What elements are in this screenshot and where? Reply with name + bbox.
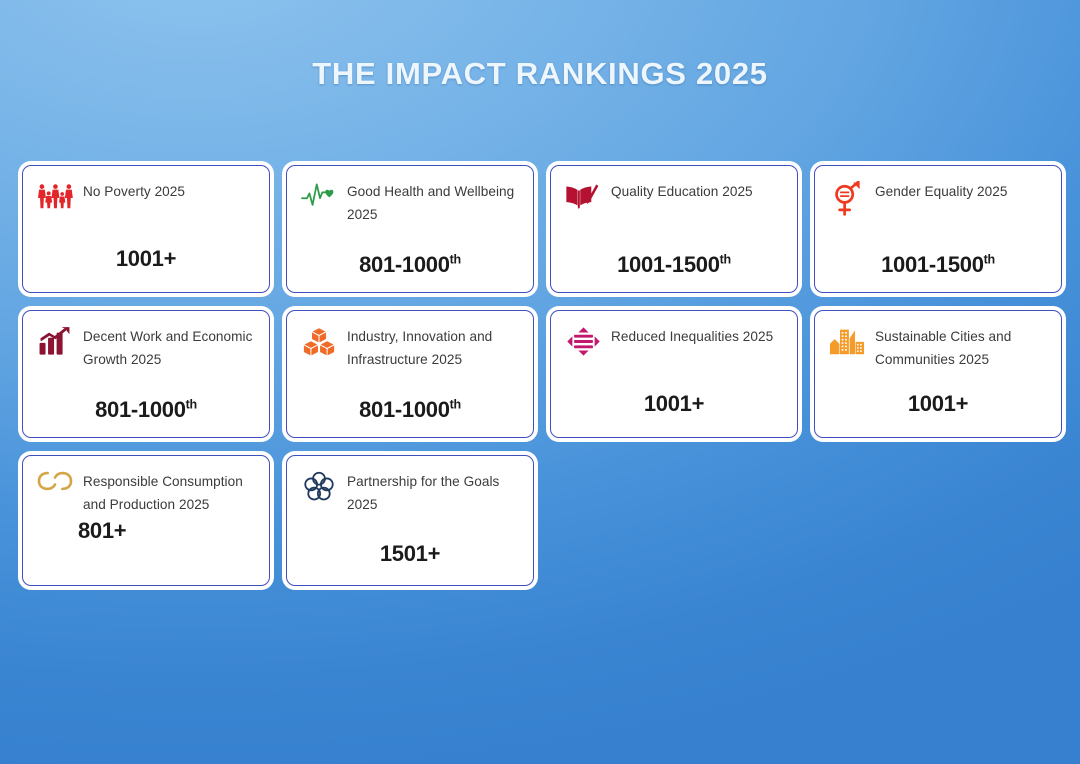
ranking-card-no-poverty-2025[interactable]: No Poverty 20251001+ bbox=[22, 165, 270, 293]
ranking-card-reduced-inequalities-2025[interactable]: Reduced Inequalities 20251001+ bbox=[550, 310, 798, 438]
rank-base: 1001+ bbox=[644, 391, 704, 416]
ranking-card-responsible-consumption-and-production-2025[interactable]: Responsible Consumption and Production 2… bbox=[22, 455, 270, 586]
ranking-card-decent-work-and-economic-growth-2025[interactable]: Decent Work and Economic Growth 2025801-… bbox=[22, 310, 270, 438]
gender-equality-symbol-icon bbox=[828, 180, 866, 214]
rank-base: 1001+ bbox=[908, 391, 968, 416]
quality-education-book-pencil-icon bbox=[564, 180, 602, 214]
card-rank-value: 801+ bbox=[36, 518, 256, 546]
card-header: Partnership for the Goals 2025 bbox=[300, 470, 520, 516]
card-rank-value: 1001-1500th bbox=[564, 252, 784, 282]
card-title: Sustainable Cities and Communities 2025 bbox=[875, 325, 1048, 371]
sustainable-cities-skyline-icon bbox=[828, 325, 866, 359]
ranking-card-gender-equality-2025[interactable]: Gender Equality 20251001-1500th bbox=[814, 165, 1062, 293]
impact-rankings-page: THE IMPACT RANKINGS 2025 No Poverty 2025… bbox=[0, 0, 1080, 764]
card-rank-value: 801-1000th bbox=[36, 397, 256, 427]
rank-ordinal-suffix: th bbox=[720, 253, 731, 267]
card-rank-value: 1001+ bbox=[828, 391, 1048, 427]
card-rank-value: 801-1000th bbox=[300, 252, 520, 282]
ranking-card-quality-education-2025[interactable]: Quality Education 20251001-1500th bbox=[550, 165, 798, 293]
partnership-goals-rosette-icon bbox=[300, 470, 338, 504]
card-header: Gender Equality 2025 bbox=[828, 180, 1048, 214]
card-rank-value: 801-1000th bbox=[300, 397, 520, 427]
good-health-heartbeat-icon bbox=[300, 180, 338, 214]
rank-base: 1001-1500 bbox=[617, 252, 720, 277]
page-title: THE IMPACT RANKINGS 2025 bbox=[0, 56, 1080, 92]
ranking-card-good-health-and-wellbeing-2025[interactable]: Good Health and Wellbeing 2025801-1000th bbox=[286, 165, 534, 293]
rank-ordinal-suffix: th bbox=[450, 253, 461, 267]
rank-base: 1501+ bbox=[380, 541, 440, 566]
card-title: Industry, Innovation and Infrastructure … bbox=[347, 325, 520, 371]
card-title: Partnership for the Goals 2025 bbox=[347, 470, 520, 516]
rank-ordinal-suffix: th bbox=[984, 253, 995, 267]
no-poverty-family-icon bbox=[36, 180, 74, 214]
rank-base: 801-1000 bbox=[359, 397, 450, 422]
rank-ordinal-suffix: th bbox=[450, 398, 461, 412]
ranking-card-sustainable-cities-and-communities-2025[interactable]: Sustainable Cities and Communities 20251… bbox=[814, 310, 1062, 438]
card-header: Industry, Innovation and Infrastructure … bbox=[300, 325, 520, 371]
rank-ordinal-suffix: th bbox=[186, 398, 197, 412]
card-rank-value: 1001-1500th bbox=[828, 252, 1048, 282]
card-header: Quality Education 2025 bbox=[564, 180, 784, 214]
rank-base: 1001+ bbox=[116, 246, 176, 271]
rankings-card-grid: No Poverty 20251001+ Good Health and Wel… bbox=[22, 165, 1062, 586]
rank-base: 801-1000 bbox=[95, 397, 186, 422]
rank-base: 801-1000 bbox=[359, 252, 450, 277]
reduced-inequalities-arrows-icon bbox=[564, 325, 602, 359]
card-title: Gender Equality 2025 bbox=[875, 180, 1008, 204]
rank-base: 801+ bbox=[78, 518, 126, 543]
responsible-consumption-infinity-icon bbox=[36, 470, 74, 504]
card-header: Responsible Consumption and Production 2… bbox=[36, 470, 256, 516]
card-header: Good Health and Wellbeing 2025 bbox=[300, 180, 520, 226]
card-title: Quality Education 2025 bbox=[611, 180, 753, 204]
card-header: Sustainable Cities and Communities 2025 bbox=[828, 325, 1048, 371]
card-title: Responsible Consumption and Production 2… bbox=[83, 470, 256, 516]
card-rank-value: 1001+ bbox=[564, 391, 784, 427]
card-rank-value: 1501+ bbox=[300, 541, 520, 575]
card-title: Decent Work and Economic Growth 2025 bbox=[83, 325, 256, 371]
ranking-card-partnership-for-the-goals-2025[interactable]: Partnership for the Goals 20251501+ bbox=[286, 455, 534, 586]
card-header: No Poverty 2025 bbox=[36, 180, 256, 214]
card-title: Good Health and Wellbeing 2025 bbox=[347, 180, 520, 226]
card-header: Decent Work and Economic Growth 2025 bbox=[36, 325, 256, 371]
industry-innovation-cubes-icon bbox=[300, 325, 338, 359]
rank-base: 1001-1500 bbox=[881, 252, 984, 277]
card-title: No Poverty 2025 bbox=[83, 180, 185, 204]
ranking-card-industry-innovation-and-infrastructure-2025[interactable]: Industry, Innovation and Infrastructure … bbox=[286, 310, 534, 438]
card-title: Reduced Inequalities 2025 bbox=[611, 325, 773, 349]
card-rank-value: 1001+ bbox=[36, 246, 256, 282]
decent-work-growth-chart-icon bbox=[36, 325, 74, 359]
card-header: Reduced Inequalities 2025 bbox=[564, 325, 784, 359]
